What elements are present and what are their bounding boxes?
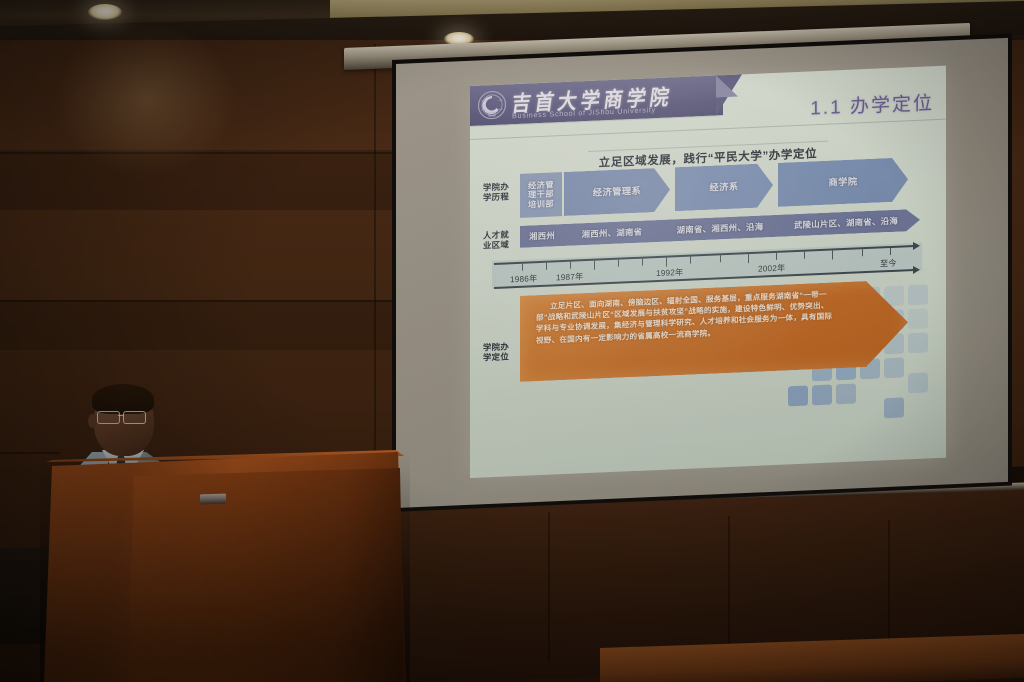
presenter-ear — [88, 414, 97, 428]
timeline-tick — [890, 248, 891, 255]
timeline-tick — [720, 255, 721, 262]
glasses-icon — [97, 411, 151, 423]
timeline-year-0: 1986年 — [510, 272, 537, 285]
ceiling-downlight-left-icon — [88, 4, 122, 20]
decor-square — [884, 397, 904, 418]
timeline-tick — [804, 252, 805, 259]
decor-square — [908, 308, 928, 329]
timeline-tick — [776, 253, 777, 260]
decor-square — [788, 386, 808, 407]
decor-square — [908, 332, 928, 353]
wall-seam-2 — [0, 300, 400, 302]
positioning-banner: 立足片区、面向湖南、傍脑边区、辐射全国、服务基层，重点服务湖南省“一带一部”战略… — [520, 279, 908, 382]
row-label-employment: 人才就 业区域 — [476, 230, 516, 252]
decor-square — [884, 357, 904, 378]
decor-square — [836, 383, 856, 404]
employment-region-3: 武陵山片区、湖南省、沿海 — [780, 214, 912, 232]
screenshot-root: 吉首大学商学院 Business School of JiShou Univer… — [0, 0, 1024, 682]
wall-panel-seam-lower — [0, 300, 400, 350]
history-stage-3: 商学院 — [778, 157, 908, 207]
timeline-year-2: 1992年 — [656, 266, 683, 279]
wall-seam-3 — [0, 452, 60, 454]
employment-region-1: 湘西州、湖南省 — [564, 225, 660, 241]
history-stage-0: 经济管 理干部 培训部 — [520, 172, 562, 218]
timeline-tick — [546, 263, 547, 270]
timeline-arrowhead-top-icon — [913, 242, 920, 250]
timeline-arrowhead-bottom-icon — [913, 266, 920, 274]
wall-panel-seam-upper — [0, 150, 400, 210]
wall-wood-panel-left — [0, 44, 420, 514]
presenter-hair — [92, 384, 154, 414]
history-stage-2: 经济系 — [675, 163, 773, 211]
employment-region-2: 湖南省、湘西州、沿海 — [660, 220, 780, 237]
decor-square — [908, 284, 928, 305]
glasses-right-lens — [123, 411, 146, 424]
history-stage-1: 经济管理系 — [564, 167, 670, 216]
timeline-tick — [862, 249, 863, 256]
timeline-year-4: 至今 — [880, 257, 897, 270]
timeline-year-1: 1987年 — [556, 270, 583, 283]
slide-header-accent-triangle — [716, 75, 738, 98]
wall-corner-seam — [374, 44, 376, 514]
glasses-left-lens — [97, 411, 120, 424]
timeline-tick — [642, 259, 643, 266]
wainscot-seam-1 — [548, 512, 550, 662]
timeline-tick — [748, 254, 749, 263]
timeline-tick — [570, 262, 571, 269]
podium-front-face — [128, 468, 404, 682]
timeline-tick — [618, 260, 619, 267]
row-label-positioning: 学院办 学定位 — [476, 342, 516, 364]
employment-region-0: 湘西州 — [520, 229, 564, 243]
decor-square — [812, 385, 832, 406]
timeline-tick — [522, 264, 523, 271]
timeline-tick — [832, 250, 833, 259]
timeline-year-3: 2002年 — [758, 262, 785, 275]
wall-seam-1 — [0, 152, 400, 154]
slide-section-title: 1.1 办学定位 — [810, 88, 934, 120]
timeline-tick — [690, 257, 691, 264]
row-label-history: 学院办 学历程 — [476, 182, 516, 204]
projected-slide: 吉首大学商学院 Business School of JiShou Univer… — [470, 66, 946, 478]
timeline-tick — [594, 261, 595, 270]
jishou-university-crest-icon — [477, 89, 507, 120]
decor-square — [908, 372, 928, 393]
timeline-tick — [666, 258, 667, 267]
podium-nameplate — [200, 494, 226, 505]
positioning-text: 立足片区、面向湖南、傍脑边区、辐射全国、服务基层，重点服务湖南省“一带一部”战略… — [536, 288, 836, 346]
